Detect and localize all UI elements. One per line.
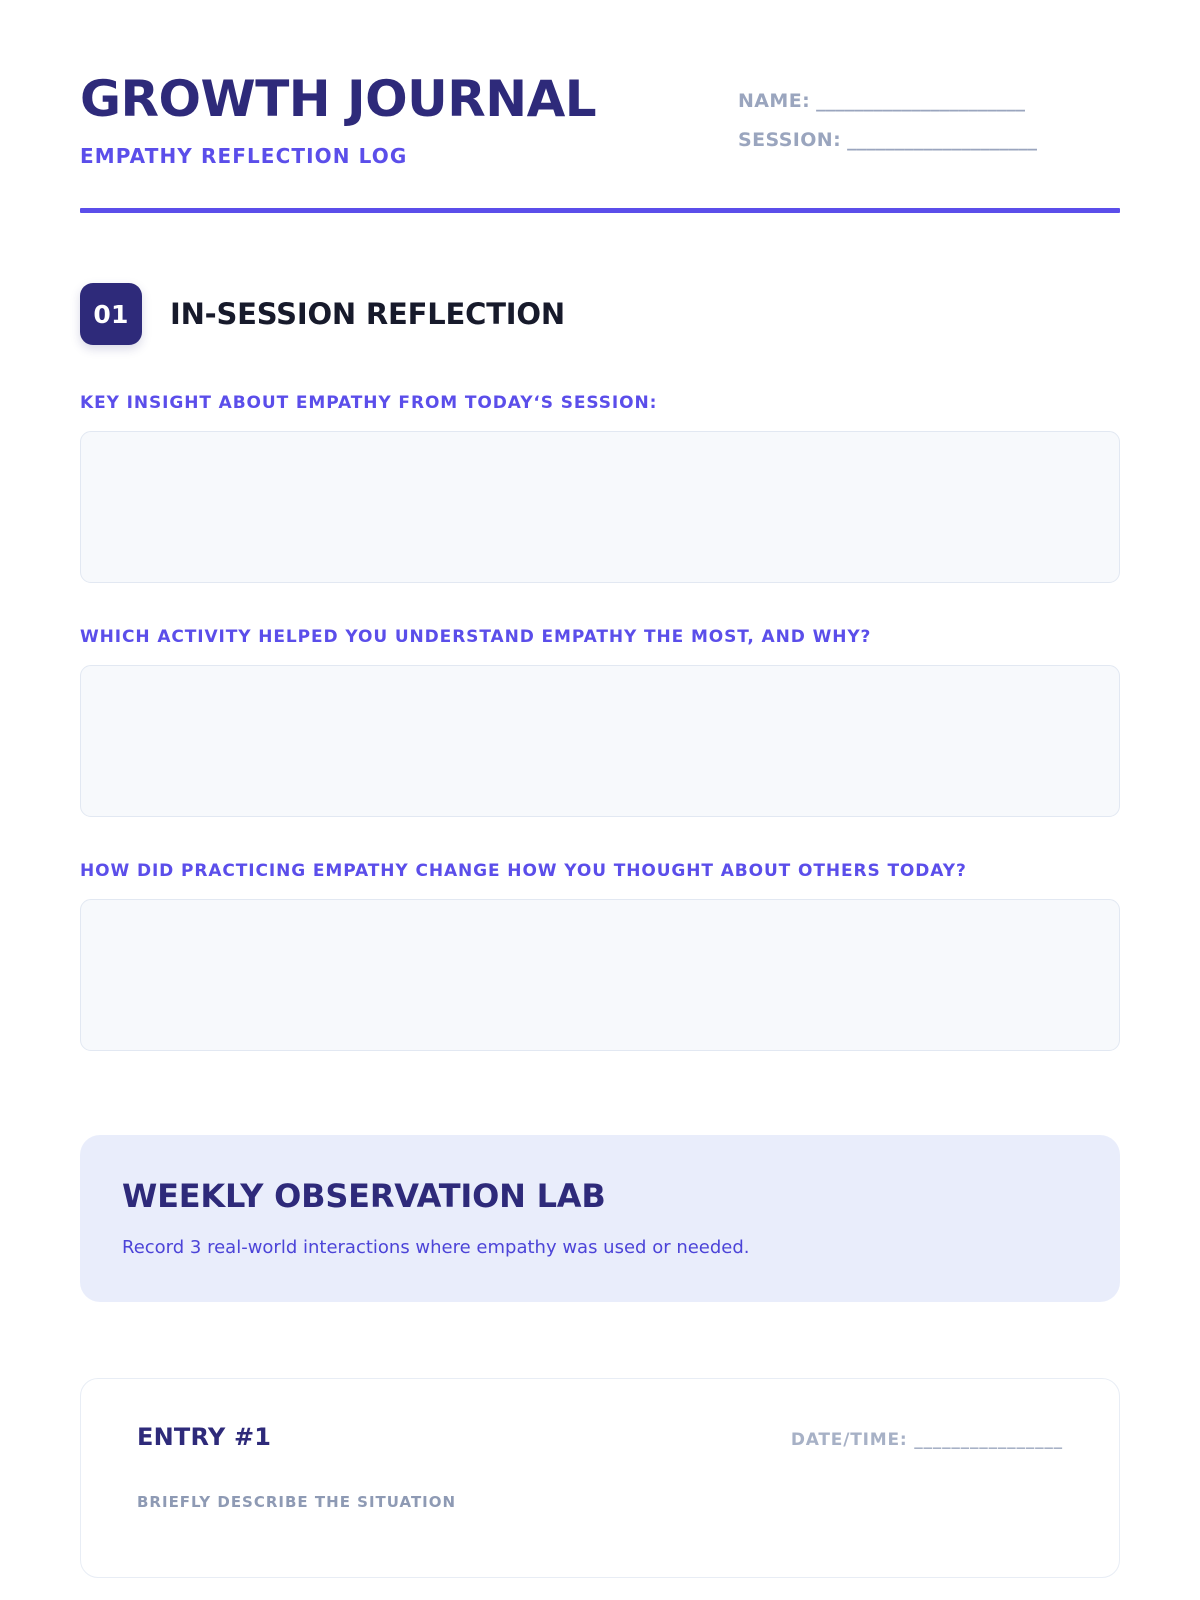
header-meta-fields: NAME: ______________________ SESSION: __… xyxy=(738,74,1120,168)
section-header-in-session-reflection: 01 IN-SESSION REFLECTION xyxy=(80,283,1120,345)
header-divider xyxy=(80,208,1120,213)
question-block-2: WHICH ACTIVITY HELPED YOU UNDERSTAND EMP… xyxy=(80,627,1120,817)
page-title: GROWTH JOURNAL xyxy=(80,74,596,124)
entry-datetime-field: DATE/TIME: ________________ xyxy=(791,1430,1063,1450)
brand-block: GROWTH JOURNAL EMPATHY REFLECTION LOG xyxy=(80,74,596,168)
entry-datetime-input[interactable]: ________________ xyxy=(914,1430,1063,1450)
answer-input-2[interactable] xyxy=(80,665,1120,817)
page-subtitle: EMPATHY REFLECTION LOG xyxy=(80,144,596,168)
worksheet-page: GROWTH JOURNAL EMPATHY REFLECTION LOG NA… xyxy=(0,0,1200,1600)
weekly-observation-lab-callout: WEEKLY OBSERVATION LAB Record 3 real-wor… xyxy=(80,1135,1120,1302)
question-label-2: WHICH ACTIVITY HELPED YOU UNDERSTAND EMP… xyxy=(80,627,1120,647)
session-input[interactable]: ____________________ xyxy=(847,129,1037,151)
entry-datetime-label: DATE/TIME: xyxy=(791,1430,908,1450)
name-field-label: NAME: xyxy=(738,90,810,112)
question-block-1: KEY INSIGHT ABOUT EMPATHY FROM TODAY‘S S… xyxy=(80,393,1120,583)
callout-description: Record 3 real-world interactions where e… xyxy=(122,1237,1078,1258)
question-block-3: HOW DID PRACTICING EMPATHY CHANGE HOW YO… xyxy=(80,861,1120,1051)
answer-input-1[interactable] xyxy=(80,431,1120,583)
question-label-1: KEY INSIGHT ABOUT EMPATHY FROM TODAY‘S S… xyxy=(80,393,1120,413)
callout-title: WEEKLY OBSERVATION LAB xyxy=(122,1177,1078,1215)
section-number-badge: 01 xyxy=(80,283,142,345)
session-field-label: SESSION: xyxy=(738,129,841,151)
answer-input-3[interactable] xyxy=(80,899,1120,1051)
section-title: IN-SESSION REFLECTION xyxy=(170,297,565,331)
entry-card-header: ENTRY #1 DATE/TIME: ________________ xyxy=(137,1423,1063,1451)
entry-card-1: ENTRY #1 DATE/TIME: ________________ BRI… xyxy=(80,1378,1120,1578)
entry-situation-label: BRIEFLY DESCRIBE THE SITUATION xyxy=(137,1493,1063,1511)
entry-title: ENTRY #1 xyxy=(137,1423,271,1451)
page-header: GROWTH JOURNAL EMPATHY REFLECTION LOG NA… xyxy=(80,0,1120,168)
name-field-row: NAME: ______________________ xyxy=(738,90,1120,112)
session-field-row: SESSION: ____________________ xyxy=(738,129,1120,151)
question-label-3: HOW DID PRACTICING EMPATHY CHANGE HOW YO… xyxy=(80,861,1120,881)
name-input[interactable]: ______________________ xyxy=(816,90,1025,112)
